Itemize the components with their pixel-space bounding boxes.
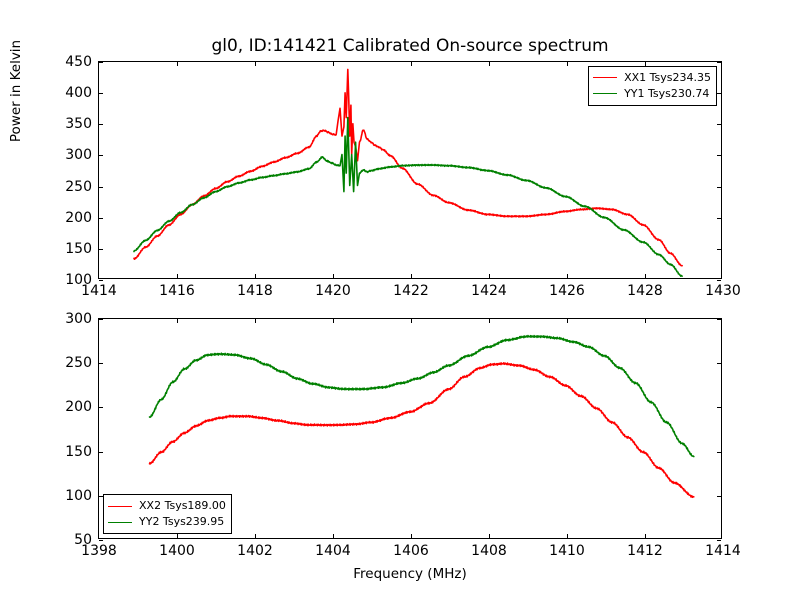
x-tick-mark: [177, 319, 178, 323]
x-tick-mark: [489, 534, 490, 538]
y-tick-mark: [717, 407, 721, 408]
y-tick-mark: [717, 155, 721, 156]
y-tick-label: 400: [65, 85, 92, 101]
x-tick-label: 1414: [705, 543, 741, 559]
y-tick-mark: [99, 407, 103, 408]
x-tick-mark: [177, 534, 178, 538]
x-tick-label: 1410: [549, 543, 585, 559]
y-tick-mark: [99, 452, 103, 453]
x-tick-label: 1402: [237, 543, 273, 559]
x-tick-mark: [489, 274, 490, 278]
y-tick-label: 200: [65, 399, 92, 415]
y-tick-mark: [99, 496, 103, 497]
y-tick-mark: [717, 62, 721, 63]
x-tick-mark: [177, 274, 178, 278]
legend-line-swatch: [593, 77, 617, 78]
y-tick-mark: [717, 218, 721, 219]
y-tick-mark: [99, 155, 103, 156]
x-tick-label: 1418: [237, 283, 273, 299]
y-tick-mark: [717, 124, 721, 125]
data-series-line: [150, 336, 694, 457]
y-tick-label: 250: [65, 355, 92, 371]
legend-label: XX1 Tsys234.35: [624, 70, 711, 86]
y-tick-label: 150: [65, 444, 92, 460]
y-tick-mark: [717, 363, 721, 364]
figure-title: gl0, ID:141421 Calibrated On-source spec…: [98, 36, 722, 56]
x-axis-label: Frequency (MHz): [98, 566, 722, 582]
x-tick-mark: [177, 62, 178, 66]
x-tick-label: 1404: [315, 543, 351, 559]
y-tick-label: 150: [65, 241, 92, 257]
x-tick-mark: [489, 62, 490, 66]
x-tick-mark: [645, 274, 646, 278]
x-tick-label: 1422: [393, 283, 429, 299]
y-tick-mark: [99, 218, 103, 219]
y-tick-mark: [717, 540, 721, 541]
x-tick-mark: [255, 534, 256, 538]
y-tick-mark: [99, 187, 103, 188]
x-tick-label: 1428: [627, 283, 663, 299]
x-tick-mark: [567, 319, 568, 323]
x-tick-mark: [645, 534, 646, 538]
x-tick-mark: [333, 62, 334, 66]
x-tick-mark: [255, 62, 256, 66]
y-tick-mark: [717, 496, 721, 497]
x-tick-label: 1408: [471, 543, 507, 559]
x-tick-mark: [333, 319, 334, 323]
x-tick-mark: [411, 62, 412, 66]
x-tick-label: 1426: [549, 283, 585, 299]
legend-label: YY1 Tsys230.74: [624, 86, 709, 102]
y-tick-mark: [717, 319, 721, 320]
data-series-line: [134, 118, 682, 277]
x-tick-label: 1430: [705, 283, 741, 299]
y-tick-label: 100: [65, 488, 92, 504]
y-tick-label: 300: [65, 147, 92, 163]
legend-entry: YY2 Tsys239.95: [108, 514, 226, 530]
x-tick-mark: [411, 274, 412, 278]
y-tick-mark: [99, 319, 103, 320]
legend-entry: YY1 Tsys230.74: [593, 86, 711, 102]
top-panel-axes: XX1 Tsys234.35YY1 Tsys230.74 10015020025…: [98, 61, 722, 279]
y-tick-mark: [99, 363, 103, 364]
y-tick-mark: [99, 249, 103, 250]
y-tick-mark: [717, 93, 721, 94]
y-tick-mark: [99, 62, 103, 63]
spectrum-figure: gl0, ID:141421 Calibrated On-source spec…: [0, 0, 800, 600]
bottom-panel-legend: XX2 Tsys189.00YY2 Tsys239.95: [103, 494, 232, 534]
x-tick-mark: [333, 274, 334, 278]
y-tick-mark: [99, 540, 103, 541]
y-tick-mark: [99, 124, 103, 125]
legend-entry: XX2 Tsys189.00: [108, 498, 226, 514]
y-axis-label: Power in Kelvin: [8, 1, 24, 181]
x-tick-label: 1414: [81, 283, 117, 299]
x-tick-label: 1420: [315, 283, 351, 299]
y-tick-label: 200: [65, 210, 92, 226]
legend-label: XX2 Tsys189.00: [139, 498, 226, 514]
x-tick-label: 1424: [471, 283, 507, 299]
legend-line-swatch: [108, 522, 132, 523]
y-tick-mark: [717, 452, 721, 453]
y-tick-label: 300: [65, 311, 92, 327]
x-tick-label: 1400: [159, 543, 195, 559]
legend-line-swatch: [593, 93, 617, 94]
bottom-panel-axes: XX2 Tsys189.00YY2 Tsys239.95 50100150200…: [98, 318, 722, 539]
x-tick-mark: [645, 319, 646, 323]
y-tick-label: 450: [65, 54, 92, 70]
y-tick-mark: [717, 249, 721, 250]
x-tick-mark: [411, 534, 412, 538]
x-tick-mark: [567, 534, 568, 538]
y-tick-mark: [717, 187, 721, 188]
x-tick-mark: [567, 62, 568, 66]
x-tick-mark: [645, 62, 646, 66]
x-tick-label: 1412: [627, 543, 663, 559]
x-tick-mark: [489, 319, 490, 323]
y-tick-mark: [99, 93, 103, 94]
legend-line-swatch: [108, 506, 132, 507]
legend-label: YY2 Tsys239.95: [139, 514, 224, 530]
x-tick-mark: [255, 274, 256, 278]
x-tick-mark: [567, 274, 568, 278]
x-tick-mark: [333, 534, 334, 538]
y-tick-label: 350: [65, 116, 92, 132]
legend-entry: XX1 Tsys234.35: [593, 70, 711, 86]
x-tick-label: 1416: [159, 283, 195, 299]
y-tick-mark: [99, 280, 103, 281]
top-panel-legend: XX1 Tsys234.35YY1 Tsys230.74: [588, 66, 717, 106]
y-tick-mark: [717, 280, 721, 281]
y-tick-label: 250: [65, 179, 92, 195]
x-tick-label: 1406: [393, 543, 429, 559]
x-tick-mark: [411, 319, 412, 323]
x-tick-mark: [255, 319, 256, 323]
x-tick-label: 1398: [81, 543, 117, 559]
data-series-line: [150, 363, 694, 497]
